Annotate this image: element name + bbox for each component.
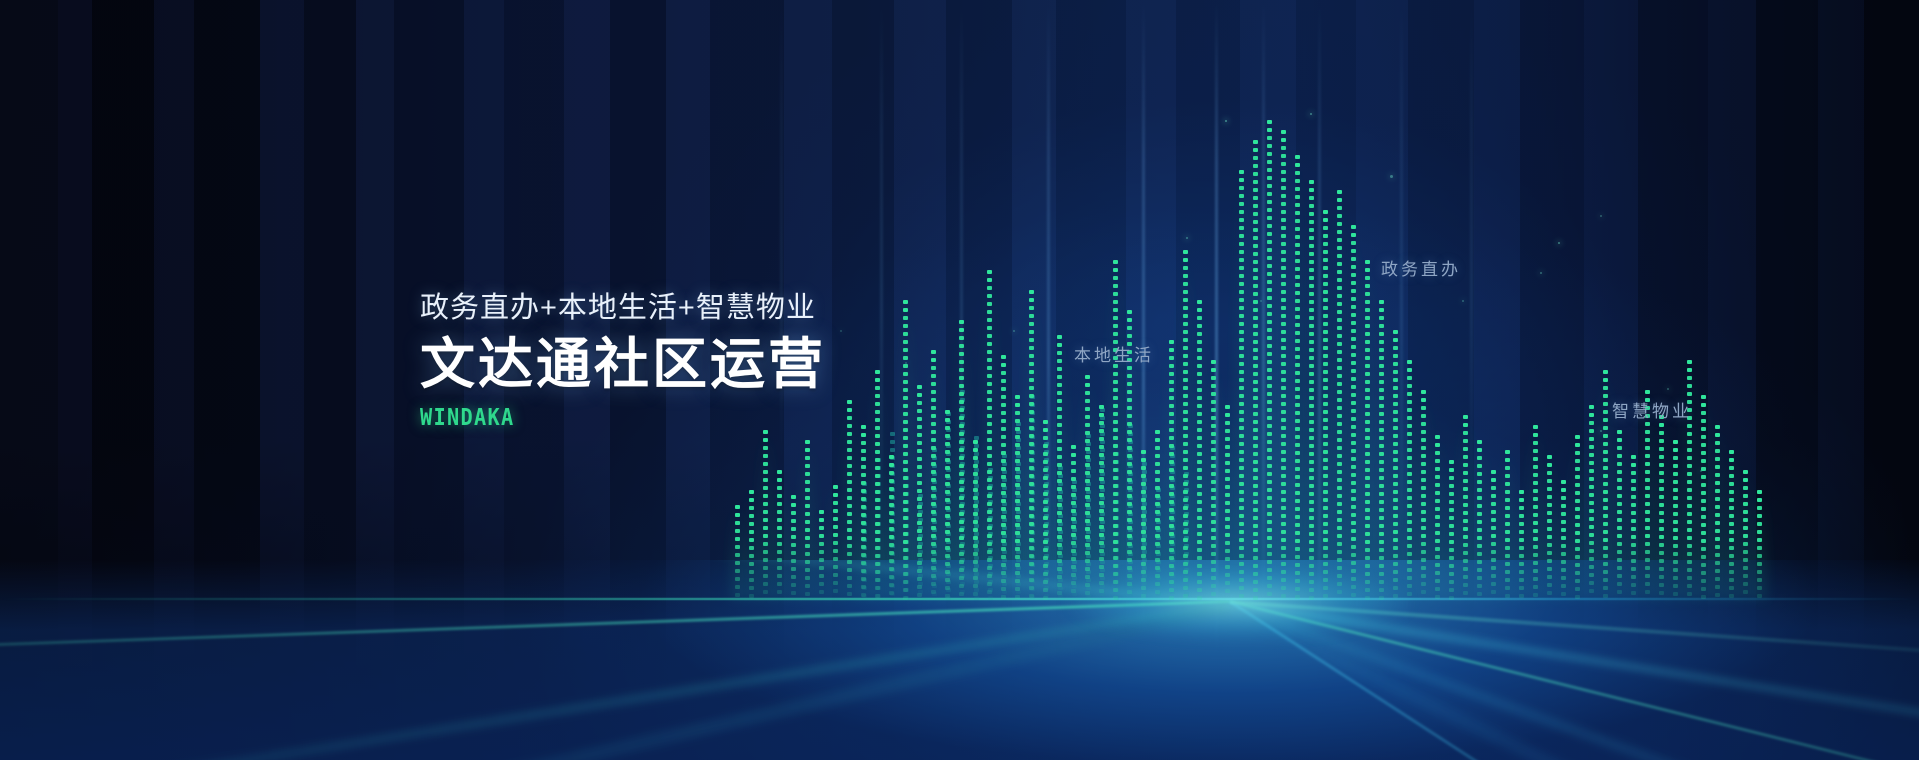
bar-dot (833, 557, 838, 561)
bar-dot (889, 479, 894, 483)
bar-dot (1295, 555, 1300, 559)
bar-dot (1533, 473, 1538, 477)
bar-dot (1225, 517, 1230, 521)
bar-dot (1337, 526, 1342, 530)
bar-dot (1379, 580, 1384, 584)
bar-dot (1099, 477, 1104, 481)
bar-dot (1043, 484, 1048, 488)
bar-dot (1253, 156, 1258, 160)
bar-dot (1491, 574, 1496, 578)
bar-dot (1281, 538, 1286, 542)
bar-dot (1113, 308, 1118, 312)
bar-dot (1407, 520, 1412, 524)
bar-dot (1421, 590, 1426, 594)
bar-dot (1701, 499, 1706, 503)
bar-dot (889, 463, 894, 467)
bar-dot (1407, 528, 1412, 532)
bar-dot (1603, 522, 1608, 526)
bar-dot (875, 418, 880, 422)
bar-dot (1491, 470, 1496, 474)
bar-dot (1309, 588, 1314, 592)
bar-dot (931, 542, 936, 546)
bar-dot (917, 481, 922, 485)
bar-dot (1365, 588, 1370, 592)
bar-dot (959, 440, 964, 444)
bar-dot (1407, 568, 1412, 572)
bar-dot (1295, 211, 1300, 215)
bar-dot (1589, 477, 1594, 481)
bar-dot (1631, 479, 1636, 483)
bar-dot (917, 521, 922, 525)
bar-dot (1659, 431, 1664, 435)
bar-dot (1295, 187, 1300, 191)
bar-dot (1659, 559, 1664, 563)
bar-dot (1029, 402, 1034, 406)
bar-dot (1659, 591, 1664, 595)
bar-dot (1253, 564, 1258, 568)
bar-dot (1323, 450, 1328, 454)
bar-dot (763, 566, 768, 570)
bar-dot (931, 534, 936, 538)
bar-dot (903, 492, 908, 496)
bar-dot (1393, 362, 1398, 366)
bar-dot (1239, 402, 1244, 406)
bar-dot (959, 384, 964, 388)
bar-dot (1757, 522, 1762, 526)
bar-dot (1505, 538, 1510, 542)
bar-dot (861, 425, 866, 429)
bar-dot (931, 502, 936, 506)
bar-dot (1099, 557, 1104, 561)
bar-dot (847, 592, 852, 596)
bar-dot (1421, 390, 1426, 394)
bar-dot (1603, 426, 1608, 430)
bar-dot (1197, 556, 1202, 560)
bar-dot (875, 426, 880, 430)
bar-dot (945, 434, 950, 438)
bar-dot (945, 418, 950, 422)
bar-dot (1575, 539, 1580, 543)
bar-dot (1379, 572, 1384, 576)
bar-dot (1183, 578, 1188, 582)
bar-dot (1281, 226, 1286, 230)
bar-dot (1505, 594, 1510, 598)
bar-dot (917, 553, 922, 557)
bar-dot (1729, 490, 1734, 494)
bar-dot (1141, 522, 1146, 526)
bar-dot (1659, 519, 1664, 523)
bar-dot (1715, 433, 1720, 437)
bar-dot (1323, 458, 1328, 462)
bar-dot (1127, 398, 1132, 402)
bar-dot (1253, 292, 1258, 296)
bar-dot (1085, 559, 1090, 563)
bar-dot (1351, 281, 1356, 285)
bar-dot (1015, 555, 1020, 559)
bar-dot (973, 488, 978, 492)
bar-dot (1589, 437, 1594, 441)
bar-dot (1757, 562, 1762, 566)
bar-dot (1267, 584, 1272, 588)
bar-dot (1435, 555, 1440, 559)
bar-dot (1239, 178, 1244, 182)
bar-dot (1365, 460, 1370, 464)
bar-dot (875, 474, 880, 478)
bar-dot (1309, 372, 1314, 376)
bar-dot (1281, 178, 1286, 182)
bar-dot (1001, 459, 1006, 463)
bar-dot (1659, 551, 1664, 555)
bar-dot (1183, 418, 1188, 422)
bar-dot (1729, 578, 1734, 582)
bar-dot (1015, 483, 1020, 487)
bar-dot (1197, 332, 1202, 336)
bar-dot (1631, 455, 1636, 459)
bar-dot (1253, 508, 1258, 512)
bar-dot (1687, 520, 1692, 524)
bar-dot (1169, 556, 1174, 560)
bar-dot (1099, 541, 1104, 545)
bar-dot (1085, 583, 1090, 587)
bar-dot (1057, 543, 1062, 547)
bar-dot (1561, 512, 1566, 516)
bar-dot (1309, 348, 1314, 352)
bar-dot (1351, 377, 1356, 381)
bar-dot (1505, 554, 1510, 558)
bar-dot (1267, 560, 1272, 564)
bar-dot (1295, 507, 1300, 511)
bar-dot (1071, 557, 1076, 561)
bar-dot (1169, 572, 1174, 576)
bar-dot (1239, 242, 1244, 246)
bar-dot (931, 558, 936, 562)
bar-dot (1253, 396, 1258, 400)
bar-dot (1659, 447, 1664, 451)
bar-dot (931, 398, 936, 402)
bar-dot (1603, 538, 1608, 542)
bar-dot (945, 442, 950, 446)
bar-dot (1267, 384, 1272, 388)
bar-dot (1015, 571, 1020, 575)
bar-dot (833, 485, 838, 489)
bar-dot (1477, 552, 1482, 556)
bar-dot (1379, 500, 1384, 504)
bar-dot (1743, 582, 1748, 586)
bar-dot (1183, 282, 1188, 286)
bar-dot (833, 565, 838, 569)
bar-dot (973, 568, 978, 572)
bar-dot (1351, 329, 1356, 333)
bar-dot (1463, 511, 1468, 515)
bar-dot (1603, 594, 1608, 598)
bar-dot (1309, 444, 1314, 448)
bar-dot (1505, 482, 1510, 486)
bar-dot (1183, 522, 1188, 526)
bar-dot (903, 356, 908, 360)
bar-dot (1477, 464, 1482, 468)
bar-dot (1687, 440, 1692, 444)
bar-dot (1533, 513, 1538, 517)
bar-dot (1239, 450, 1244, 454)
bar-dot (1379, 348, 1384, 352)
bar-dot (819, 510, 824, 514)
bar-dot (1435, 499, 1440, 503)
bar-dot (1267, 424, 1272, 428)
bar-dot (1407, 416, 1412, 420)
bar-dot (1393, 426, 1398, 430)
bar-dot (973, 496, 978, 500)
bar-dot (1603, 370, 1608, 374)
bar-dot (1001, 355, 1006, 359)
bar-dot (1505, 578, 1510, 582)
bar-dot (861, 441, 866, 445)
bar-dot (1337, 438, 1342, 442)
bar-dot (1141, 498, 1146, 502)
bar-dot (1435, 451, 1440, 455)
bar-dot (1519, 514, 1524, 518)
bar-dot (959, 520, 964, 524)
bar-dot (1477, 592, 1482, 596)
bar-dot (959, 464, 964, 468)
bar-dot (973, 504, 978, 508)
bar-dot (917, 457, 922, 461)
bar-dot (917, 425, 922, 429)
bar-dot (1617, 590, 1622, 594)
bar-dot (1435, 467, 1440, 471)
bar-dot (1085, 503, 1090, 507)
bar-dot (1505, 522, 1510, 526)
bar-dot (791, 591, 796, 595)
bar-dot (1155, 502, 1160, 506)
bar-dot (1085, 519, 1090, 523)
bar-dot (1533, 521, 1538, 525)
bar-dot (861, 569, 866, 573)
bar-dot (903, 436, 908, 440)
bar-dot (1393, 394, 1398, 398)
bar-dot (1701, 571, 1706, 575)
bar-dot (1421, 502, 1426, 506)
bar-dot (861, 497, 866, 501)
bar-dot (1267, 144, 1272, 148)
bar-dot (945, 570, 950, 574)
bar-dot (1295, 467, 1300, 471)
bar-dot (1435, 579, 1440, 583)
bar-dot (875, 530, 880, 534)
bar-dot (791, 543, 796, 547)
bar-dot (1183, 434, 1188, 438)
bar-dot (1029, 338, 1034, 342)
bar-dot (1603, 530, 1608, 534)
bar-dot (959, 512, 964, 516)
bar-dot (1225, 469, 1230, 473)
bar-dot (1295, 299, 1300, 303)
bar-dot (959, 544, 964, 548)
bar-dot (1645, 558, 1650, 562)
bar-dot (1211, 464, 1216, 468)
bar-dot (1729, 514, 1734, 518)
bar-dot (1113, 572, 1118, 576)
bar-dot (1267, 368, 1272, 372)
bar-dot (1519, 594, 1524, 598)
bar-dot (1687, 576, 1692, 580)
bar-dot (791, 495, 796, 499)
bar-dot (1701, 475, 1706, 479)
bar-dot (1701, 491, 1706, 495)
bar-dot (987, 366, 992, 370)
bar-dot (1449, 548, 1454, 552)
bar-dot (1687, 480, 1692, 484)
bar-dot (1407, 480, 1412, 484)
bar-dot (1113, 508, 1118, 512)
bar-dot (1351, 569, 1356, 573)
bar-dot (903, 308, 908, 312)
bar-dot (1057, 359, 1062, 363)
bar-dot (1253, 228, 1258, 232)
bar-dot (1729, 450, 1734, 454)
bar-dot (1701, 443, 1706, 447)
bar-dot (1491, 558, 1496, 562)
bar-dot (1323, 330, 1328, 334)
bar-dot (1407, 472, 1412, 476)
bar-dot (945, 594, 950, 598)
bar-dot (1575, 467, 1580, 471)
bar-dot (1645, 566, 1650, 570)
bar-dot (1295, 427, 1300, 431)
bar-dot (1253, 172, 1258, 176)
bar-dot (1197, 436, 1202, 440)
bar-dot (917, 385, 922, 389)
bar-dot (1225, 437, 1230, 441)
bar-dot (1449, 596, 1454, 600)
bar-dot (791, 551, 796, 555)
bar-dot (1057, 527, 1062, 531)
bar-dot (1295, 483, 1300, 487)
bar-dot (1463, 415, 1468, 419)
bar-dot (1505, 450, 1510, 454)
bar-dot (1085, 431, 1090, 435)
bar-dot (1337, 454, 1342, 458)
bar-dot (1351, 353, 1356, 357)
bar-dot (931, 494, 936, 498)
bar-dot (1365, 532, 1370, 536)
bar-dot (1673, 464, 1678, 468)
bar-dot (1267, 376, 1272, 380)
bar-dot (1127, 390, 1132, 394)
bar-dot (1253, 532, 1258, 536)
bar-dot (1323, 530, 1328, 534)
bar-dot (1365, 372, 1370, 376)
bar-dot (1141, 474, 1146, 478)
bar-dot (1743, 550, 1748, 554)
bar-dot (1113, 260, 1118, 264)
bar-dot (1239, 298, 1244, 302)
bar-dot (1715, 561, 1720, 565)
bar-dot (1281, 394, 1286, 398)
bar-dot (959, 528, 964, 532)
bar-dot (1253, 500, 1258, 504)
bar-dot (1295, 371, 1300, 375)
bar-dot (1603, 442, 1608, 446)
bar-dot (1253, 468, 1258, 472)
bar-dot (1365, 276, 1370, 280)
bar-dot (749, 570, 754, 574)
bar-dot (805, 552, 810, 556)
bar-dot (1015, 595, 1020, 599)
bar-dot (1057, 343, 1062, 347)
bar-dot (1365, 420, 1370, 424)
bar-dot (1393, 570, 1398, 574)
bar-dot (1687, 560, 1692, 564)
bar-dot (1407, 552, 1412, 556)
bar-dot (1589, 445, 1594, 449)
bar-dot (1589, 493, 1594, 497)
bar-dot (1113, 468, 1118, 472)
bar-dot (1113, 524, 1118, 528)
bar-dot (861, 521, 866, 525)
bar-dot (917, 593, 922, 597)
bar-dot (1617, 550, 1622, 554)
bar-dot (1435, 515, 1440, 519)
bar-dot (1365, 452, 1370, 456)
bar-dot (889, 471, 894, 475)
bar-dot (1659, 479, 1664, 483)
bar-dot (1393, 474, 1398, 478)
bar-dot (1393, 386, 1398, 390)
bar-dot (1183, 506, 1188, 510)
bar-dot (1477, 544, 1482, 548)
bar-dot (1281, 170, 1286, 174)
bar-dot (1099, 469, 1104, 473)
bar-dot (1267, 264, 1272, 268)
bar-dot (1603, 386, 1608, 390)
bar-dot (945, 514, 950, 518)
bar-dot (1715, 569, 1720, 573)
bar-dot (1169, 548, 1174, 552)
bar-dot (1715, 577, 1720, 581)
bar-dot (1533, 497, 1538, 501)
bar-dot (1043, 548, 1048, 552)
bar-dot (1575, 571, 1580, 575)
bar-dot (1617, 582, 1622, 586)
bar-dot (1365, 428, 1370, 432)
bar-dot (959, 560, 964, 564)
bar-dot (1407, 424, 1412, 428)
bar-dot (917, 489, 922, 493)
bar-dot (1253, 236, 1258, 240)
bar-dot (1505, 514, 1510, 518)
bar-dot (749, 506, 754, 510)
bar-dot (875, 394, 880, 398)
bar-dot (1589, 405, 1594, 409)
bar-dot (1701, 435, 1706, 439)
bar-dot (1743, 502, 1748, 506)
bar-dot (1379, 396, 1384, 400)
bar-dot (1337, 214, 1342, 218)
bar-dot (1001, 419, 1006, 423)
bar-dot (945, 490, 950, 494)
bar-dot (973, 528, 978, 532)
bar-dot (1001, 539, 1006, 543)
bar-dot (917, 393, 922, 397)
bar-dot (1281, 442, 1286, 446)
bar-dot (1589, 413, 1594, 417)
bar-dot (1365, 332, 1370, 336)
bar-dot (959, 344, 964, 348)
bar-dot (749, 498, 754, 502)
bar-dot (1253, 588, 1258, 592)
bar-dot (987, 286, 992, 290)
bar-dot (1183, 314, 1188, 318)
